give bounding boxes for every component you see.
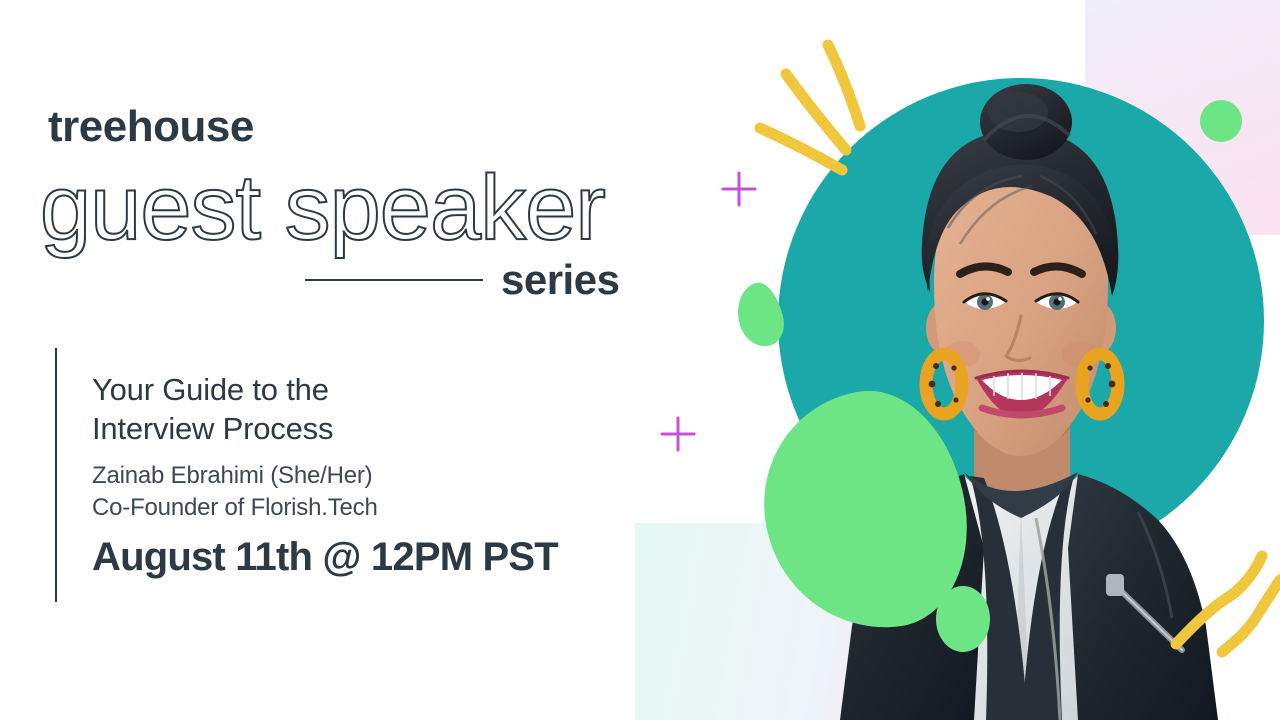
brand-name: treehouse (48, 105, 254, 149)
speaker-name: Zainab Ebrahimi (She/Her) (92, 462, 372, 490)
series-divider-rule (305, 279, 483, 281)
session-title: Your Guide to the Interview Process (92, 370, 333, 448)
headline-main: guest speaker (40, 160, 605, 257)
green-blob-dot (936, 586, 990, 652)
left-vertical-rule (55, 348, 57, 602)
headline-sub: series (501, 256, 619, 304)
speaker-role: Co-Founder of Florish.Tech (92, 494, 378, 522)
series-row: series (305, 252, 630, 308)
poster-canvas: treehouse guest speaker series Your Guid… (0, 0, 1280, 720)
event-datetime: August 11th @ 12PM PST (92, 535, 558, 580)
